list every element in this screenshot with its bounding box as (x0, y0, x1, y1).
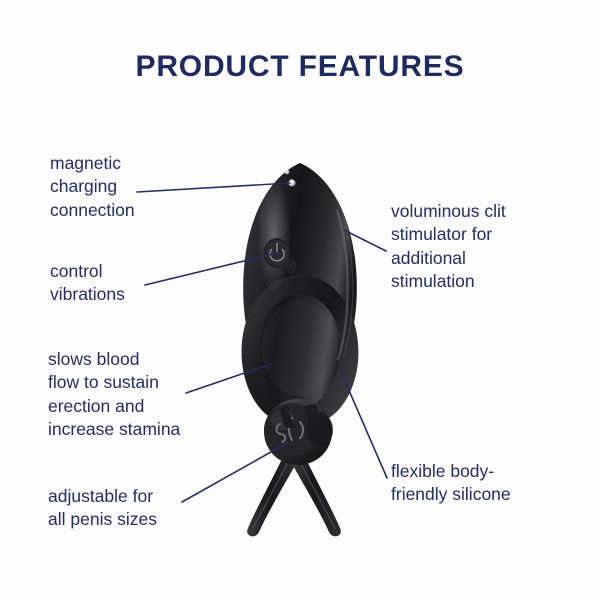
callout-voluminous-clit-stimulator: voluminous clit stimulator for additiona… (391, 200, 506, 293)
product-features-infographic: PRODUCT FEATURES (0, 0, 600, 600)
callout-flexible-silicone: flexible body- friendly silicone (391, 460, 511, 507)
callout-control-vibrations: control vibrations (50, 260, 125, 307)
adjustable-straps (247, 455, 341, 536)
magnetic-charging-contact (288, 179, 295, 186)
callout-magnetic-charging-connection: magnetic charging connection (50, 152, 135, 222)
magnetic-charging-contact (285, 170, 290, 175)
clit-stimulator-body (242, 163, 359, 424)
callout-slows-blood-flow: slows blood flow to sustain erection and… (48, 348, 180, 441)
callout-adjustable-size: adjustable for all penis sizes (48, 485, 157, 532)
